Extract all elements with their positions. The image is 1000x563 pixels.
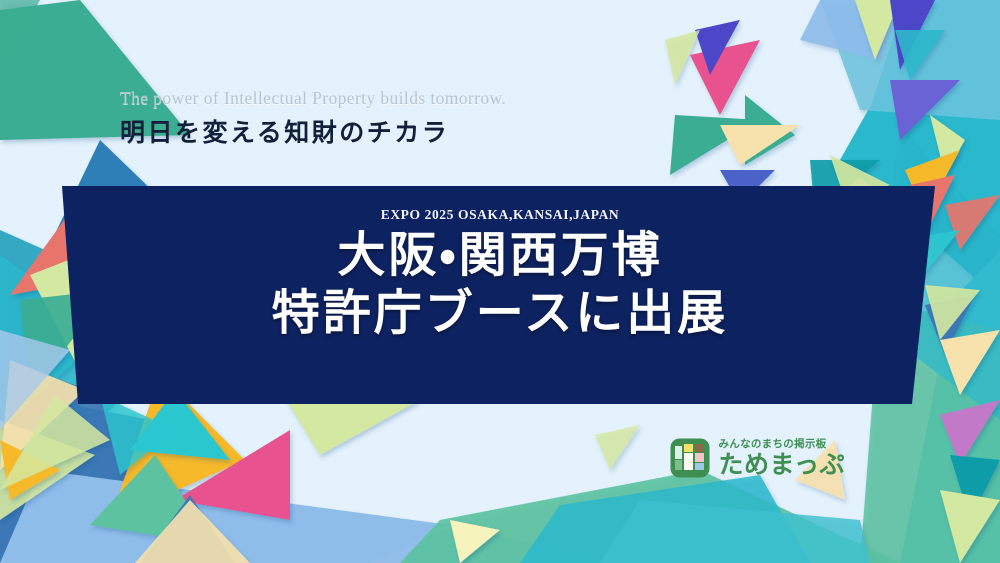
tagline-japanese: 明日を変える知財のチカラ (120, 113, 680, 149)
bulletin-board-icon (670, 438, 710, 478)
logo-subtitle: みんなのまちの掲示板 (718, 439, 845, 450)
tagline-block: The power of Intellectual Property build… (120, 88, 680, 149)
tamemap-logo[interactable]: みんなのまちの掲示板 ためまっぷ (670, 438, 845, 478)
logo-text: みんなのまちの掲示板 ためまっぷ (718, 439, 845, 478)
poster-canvas: The power of Intellectual Property build… (0, 0, 1000, 563)
banner-shape (0, 186, 1000, 404)
navy-headline-banner: EXPO 2025 OSAKA,KANSAI,JAPAN 大阪・関西万博 特許庁… (0, 186, 1000, 404)
tagline-english: The power of Intellectual Property build… (120, 88, 680, 109)
logo-wordmark: ためまっぷ (718, 452, 845, 477)
